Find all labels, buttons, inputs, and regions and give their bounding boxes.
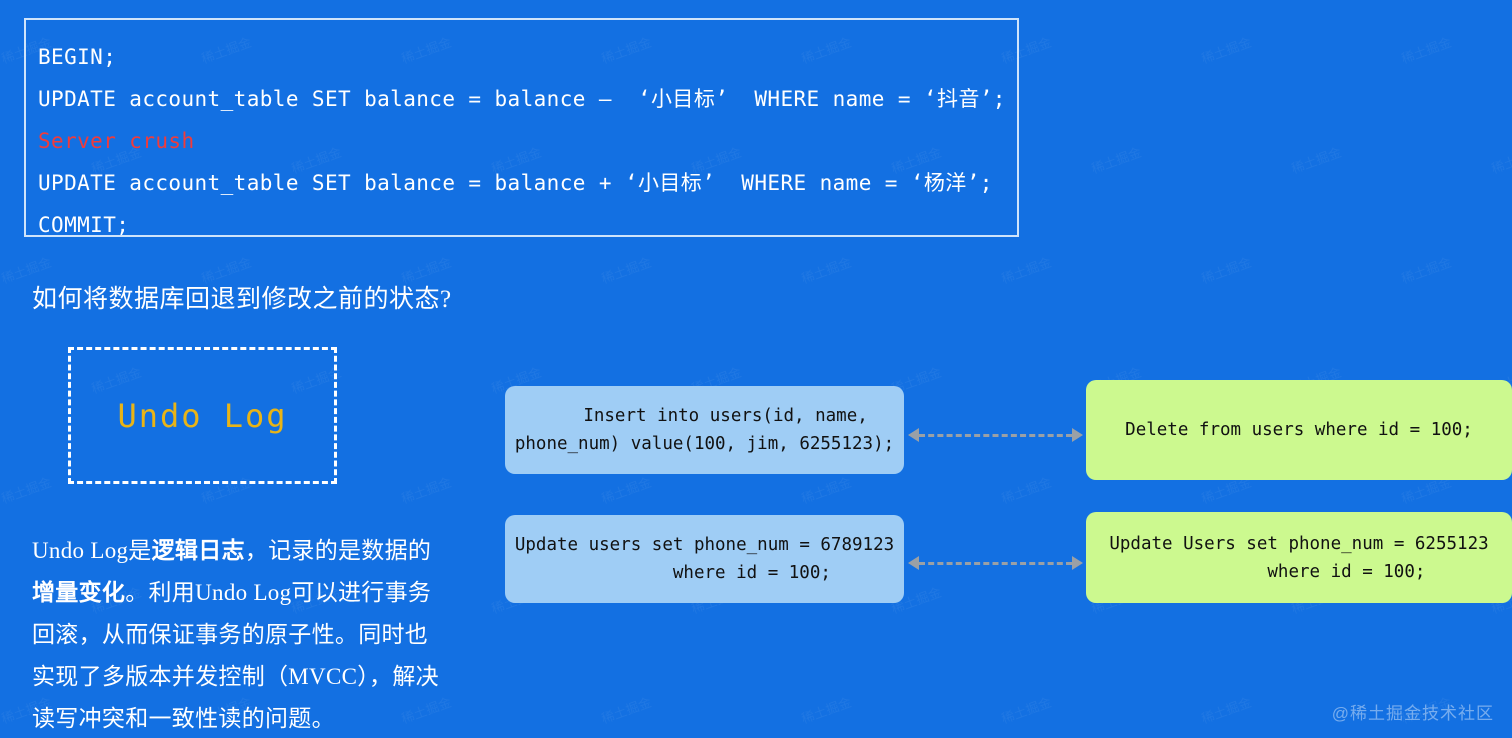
- code-line-commit: COMMIT;: [38, 204, 1005, 246]
- watermark-tile: 稀土掘金: [0, 472, 54, 508]
- slide-canvas: 稀土掘金稀土掘金稀土掘金稀土掘金稀土掘金稀土掘金稀土掘金稀土掘金稀土掘金稀土掘金…: [0, 0, 1512, 738]
- arrow-left-icon: [908, 428, 919, 442]
- original-sql-box-1: Insert into users(id, name, phone_num) v…: [505, 386, 904, 474]
- original-sql-text-2: Update users set phone_num = 6789123 whe…: [515, 531, 894, 587]
- original-sql-text-1: Insert into users(id, name, phone_num) v…: [515, 402, 894, 458]
- sql-transaction-code-block: BEGIN; UPDATE account_table SET balance …: [24, 18, 1019, 237]
- undo-log-description: Undo Log是逻辑日志，记录的是数据的增量变化。利用Undo Log可以进行…: [32, 530, 442, 738]
- code-line-begin: BEGIN;: [38, 36, 1005, 78]
- undo-sql-box-1: Delete from users where id = 100;: [1086, 380, 1512, 480]
- watermark-tile: 稀土掘金: [1198, 32, 1253, 68]
- undo-sql-text-2: Update Users set phone_num = 6255123 whe…: [1109, 530, 1488, 586]
- watermark-tile: 稀土掘金: [1088, 142, 1143, 178]
- watermark-tile: 稀土掘金: [998, 472, 1053, 508]
- description-segment-2: ，记录的是数据的: [245, 538, 431, 563]
- undo-connector-arrow-1: [908, 428, 1083, 442]
- undo-sql-box-2: Update Users set phone_num = 6255123 whe…: [1086, 512, 1512, 603]
- question-text: 如何将数据库回退到修改之前的状态?: [32, 279, 452, 315]
- dashed-line: [919, 434, 1072, 437]
- arrow-left-icon: [908, 556, 919, 570]
- watermark-tile: 稀土掘金: [798, 692, 853, 728]
- arrow-right-icon: [1072, 428, 1083, 442]
- watermark-tile: 稀土掘金: [1198, 692, 1253, 728]
- watermark-tile: 稀土掘金: [598, 252, 653, 288]
- code-line-server-crush: Server crush: [38, 120, 1005, 162]
- code-line-update-2: UPDATE account_table SET balance = balan…: [38, 162, 1005, 204]
- watermark-tile: 稀土掘金: [998, 252, 1053, 288]
- undo-log-label: Undo Log: [117, 397, 287, 435]
- watermark-tile: 稀土掘金: [598, 472, 653, 508]
- description-segment-0: Undo Log是: [32, 538, 152, 563]
- watermark-tile: 稀土掘金: [1398, 252, 1453, 288]
- code-line-update-1: UPDATE account_table SET balance = balan…: [38, 78, 1005, 120]
- watermark-tile: 稀土掘金: [798, 472, 853, 508]
- watermark-tile: 稀土掘金: [798, 252, 853, 288]
- watermark-tile: 稀土掘金: [1198, 252, 1253, 288]
- watermark-tile: 稀土掘金: [398, 472, 453, 508]
- dashed-line: [919, 562, 1072, 565]
- watermark-tile: 稀土掘金: [598, 692, 653, 728]
- watermark-tile: 稀土掘金: [1488, 142, 1512, 178]
- watermark-tile: 稀土掘金: [1398, 32, 1453, 68]
- undo-log-dashed-box: Undo Log: [68, 347, 337, 484]
- original-sql-box-2: Update users set phone_num = 6789123 whe…: [505, 515, 904, 603]
- undo-sql-text-1: Delete from users where id = 100;: [1125, 416, 1473, 444]
- watermark-credit: @稀土掘金技术社区: [1332, 699, 1494, 724]
- watermark-tile: 稀土掘金: [998, 692, 1053, 728]
- description-segment-1: 逻辑日志: [152, 538, 245, 563]
- watermark-tile: 稀土掘金: [1288, 142, 1343, 178]
- undo-connector-arrow-2: [908, 556, 1083, 570]
- description-segment-3: 增量变化: [32, 580, 125, 605]
- arrow-right-icon: [1072, 556, 1083, 570]
